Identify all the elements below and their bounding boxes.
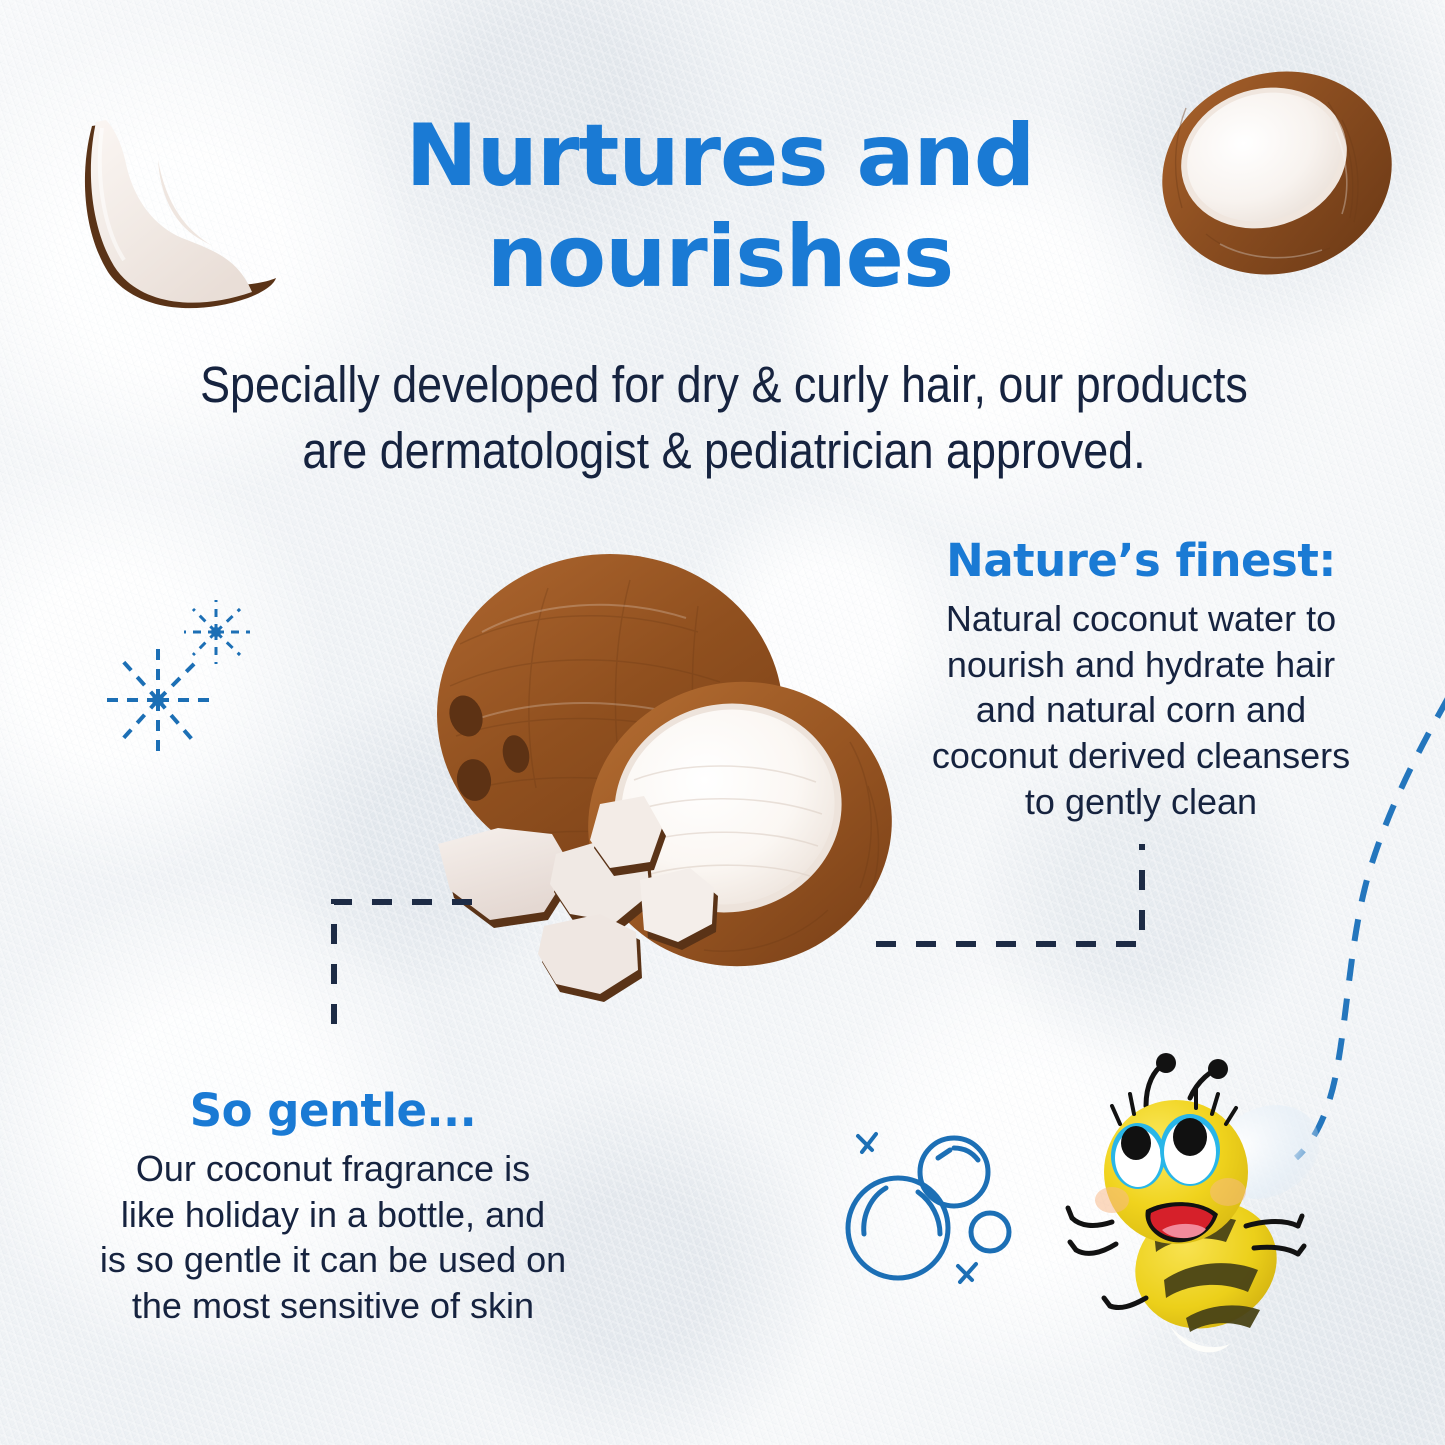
- callout-natures-finest: Nature’s finest: Natural coconut water t…: [896, 534, 1386, 825]
- bubbles-icon: [832, 1122, 1064, 1322]
- product-infographic: Nurtures and nourishes Specially develop…: [0, 0, 1445, 1445]
- body-line: and natural corn and: [896, 687, 1386, 733]
- subtitle: Specially developed for dry & curly hair…: [170, 352, 1277, 485]
- subtitle-line-2: are dermatologist & pediatrician approve…: [170, 418, 1277, 484]
- headline-line-2: nourishes: [280, 207, 1160, 308]
- dashed-connector-icon: [868, 836, 1158, 956]
- body-line: like holiday in a bottle, and: [60, 1192, 606, 1238]
- callout-natures-finest-heading: Nature’s finest:: [896, 534, 1386, 588]
- bee-icon: [1050, 1040, 1380, 1370]
- body-line: to gently clean: [896, 779, 1386, 825]
- coconut-half-icon: [1146, 62, 1408, 284]
- dashed-connector-icon: [322, 890, 482, 1050]
- body-line: Our coconut fragrance is: [60, 1146, 606, 1192]
- coconut-wedge-icon: [62, 108, 292, 323]
- body-line: coconut derived cleansers: [896, 733, 1386, 779]
- page-title: Nurtures and nourishes: [280, 106, 1160, 307]
- headline-line-1: Nurtures and: [280, 106, 1160, 207]
- callout-so-gentle-body: Our coconut fragrance is like holiday in…: [60, 1146, 606, 1329]
- body-line: Natural coconut water to: [896, 596, 1386, 642]
- body-line: is so gentle it can be used on: [60, 1237, 606, 1283]
- subtitle-line-1: Specially developed for dry & curly hair…: [170, 352, 1277, 418]
- coconut-pair-icon: [398, 536, 938, 1016]
- callout-so-gentle-heading: So gentle...: [60, 1084, 606, 1138]
- body-line: nourish and hydrate hair: [896, 642, 1386, 688]
- callout-natures-finest-body: Natural coconut water to nourish and hyd…: [896, 596, 1386, 825]
- body-line: the most sensitive of skin: [60, 1283, 606, 1329]
- sparkle-burst-icon: [88, 588, 264, 764]
- callout-so-gentle: So gentle... Our coconut fragrance is li…: [60, 1084, 606, 1329]
